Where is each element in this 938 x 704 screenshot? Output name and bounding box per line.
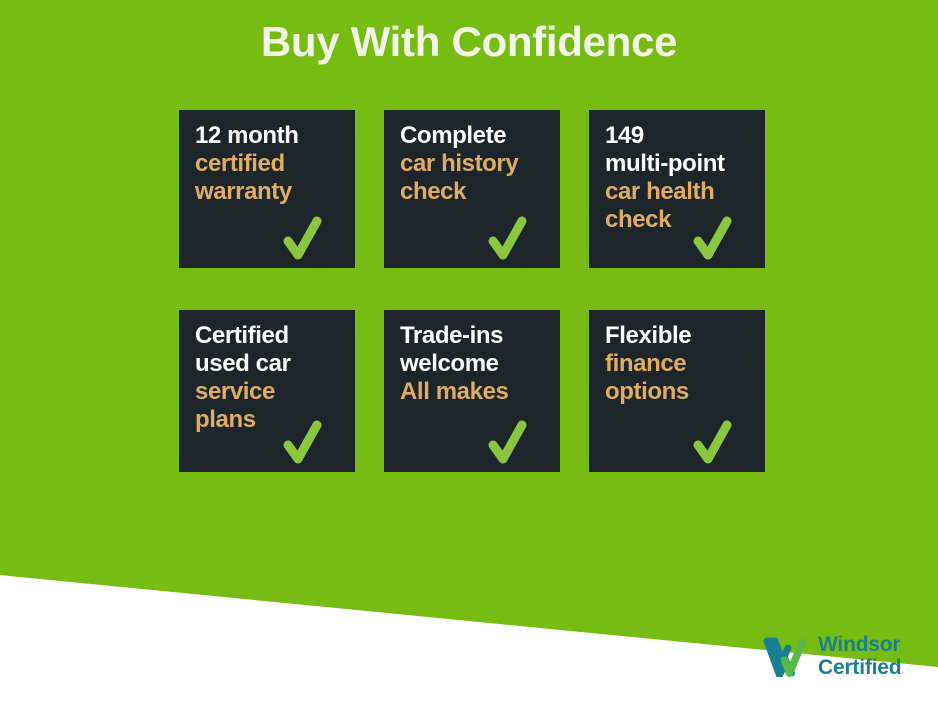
card-line: certified: [195, 150, 345, 178]
promo-banner: Buy With Confidence 12 monthcertifiedwar…: [0, 0, 938, 704]
feature-card-complete-car-history-check: Completecar historycheck: [384, 110, 560, 268]
card-line: warranty: [195, 178, 345, 206]
feature-card-trade-ins-welcome-all-makes: Trade-inswelcomeAll makes: [384, 310, 560, 472]
logo-line-2: Certified: [818, 656, 901, 679]
feature-card-certified-used-car-service-plans: Certifiedused carserviceplans: [179, 310, 355, 472]
check-icon: [693, 420, 733, 466]
card-line: welcome: [400, 350, 550, 378]
card-line: car health: [605, 178, 755, 206]
feature-card-flexible-finance-options: Flexiblefinanceoptions: [589, 310, 765, 472]
card-line: car history: [400, 150, 550, 178]
card-line: Complete: [400, 122, 550, 150]
logo-line-1: Windsor: [818, 633, 901, 656]
card-line: finance: [605, 350, 755, 378]
card-line: Flexible: [605, 322, 755, 350]
card-line: multi-point: [605, 150, 755, 178]
windsor-w-icon: [763, 635, 809, 677]
card-line: All makes: [400, 378, 550, 406]
check-icon: [283, 216, 323, 262]
card-text-block: Completecar historycheck: [400, 122, 550, 206]
card-text-block: 12 monthcertifiedwarranty: [195, 122, 345, 206]
check-icon: [488, 420, 528, 466]
card-line: check: [400, 178, 550, 206]
check-icon: [283, 420, 323, 466]
card-text-block: Certifiedused carserviceplans: [195, 322, 345, 434]
check-icon: [488, 216, 528, 262]
card-text-block: Trade-inswelcomeAll makes: [400, 322, 550, 406]
card-line: 12 month: [195, 122, 345, 150]
windsor-certified-logo: Windsor Certified: [763, 628, 928, 684]
card-line: 149: [605, 122, 755, 150]
feature-card-12-month-certified-warranty: 12 monthcertifiedwarranty: [179, 110, 355, 268]
card-text-block: Flexiblefinanceoptions: [605, 322, 755, 406]
card-line: used car: [195, 350, 345, 378]
card-line: Certified: [195, 322, 345, 350]
check-icon: [693, 216, 733, 262]
card-line: service: [195, 378, 345, 406]
logo-wordmark: Windsor Certified: [818, 633, 901, 679]
feature-card-149-multi-point-car-health-check: 149multi-pointcar healthcheck: [589, 110, 765, 268]
card-line: Trade-ins: [400, 322, 550, 350]
page-title: Buy With Confidence: [0, 18, 938, 66]
card-line: options: [605, 378, 755, 406]
